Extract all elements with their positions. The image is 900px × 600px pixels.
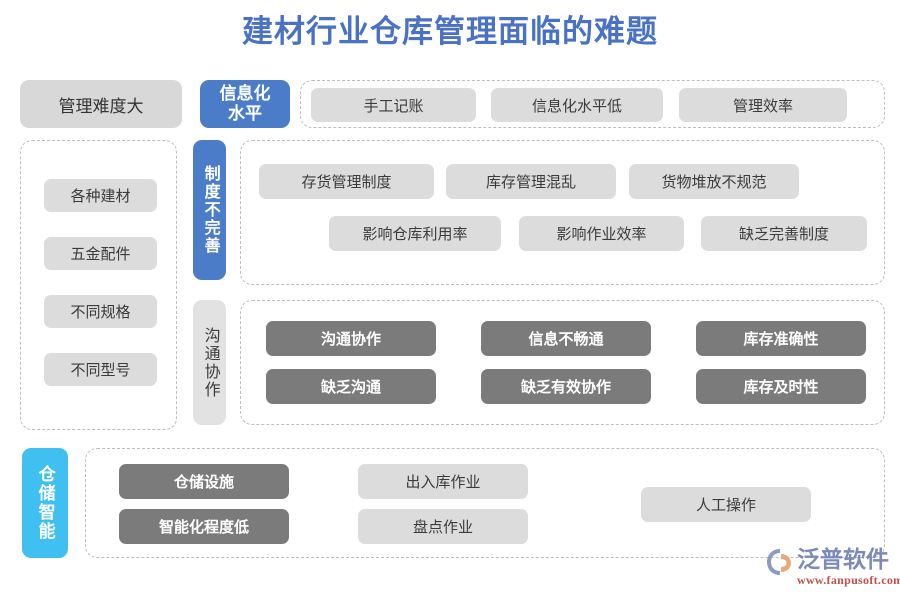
warehouse-item-c2-0[interactable]: 出入库作业 (358, 464, 528, 499)
brand-url: www.fanpusoft.com (797, 573, 900, 588)
category-label-smart-warehousing-text: 仓储智能 (36, 465, 53, 541)
system-item-r2-2[interactable]: 缺乏完善制度 (701, 216, 867, 251)
system-item-r1-0[interactable]: 存货管理制度 (259, 164, 434, 199)
communication-item-r1-0[interactable]: 沟通协作 (266, 321, 436, 356)
page-title: 建材行业仓库管理面临的难题 (0, 12, 900, 52)
category-label-incomplete-system-text: 制度不完善 (201, 165, 217, 255)
material-item-1[interactable]: 五金配件 (44, 237, 157, 270)
fanpu-logo-icon (766, 547, 796, 577)
panel-communication: 沟通协作 信息不畅通 库存准确性 缺乏沟通 缺乏有效协作 库存及时性 (240, 300, 885, 425)
communication-item-r1-2[interactable]: 库存准确性 (696, 321, 866, 356)
communication-item-r2-1[interactable]: 缺乏有效协作 (481, 369, 651, 404)
brand-name: 泛普软件 (797, 545, 889, 573)
item-low-informatization[interactable]: 信息化水平低 (491, 88, 663, 122)
category-label-communication-text: 沟通协作 (201, 327, 217, 399)
category-label-communication[interactable]: 沟通协作 (193, 300, 226, 425)
infographic-canvas: 建材行业仓库管理面临的难题 管理难度大 信息化水平 手工记账 信息化水平低 管理… (0, 0, 900, 600)
communication-item-r1-1[interactable]: 信息不畅通 (481, 321, 651, 356)
item-management-efficiency[interactable]: 管理效率 (679, 88, 847, 122)
panel-smart-warehousing: 仓储设施 智能化程度低 出入库作业 盘点作业 人工操作 (85, 448, 885, 558)
material-item-2[interactable]: 不同规格 (44, 295, 157, 328)
header-management-difficulty: 管理难度大 (20, 80, 182, 128)
material-item-0[interactable]: 各种建材 (44, 179, 157, 212)
panel-incomplete-system: 存货管理制度 库存管理混乱 货物堆放不规范 影响仓库利用率 影响作业效率 缺乏完… (240, 140, 885, 285)
warehouse-item-c3-0[interactable]: 人工操作 (641, 487, 811, 522)
warehouse-item-c2-1[interactable]: 盘点作业 (358, 509, 528, 544)
system-item-r1-1[interactable]: 库存管理混乱 (446, 164, 616, 199)
category-label-informatization-text: 信息化水平 (220, 84, 271, 124)
category-label-incomplete-system[interactable]: 制度不完善 (193, 140, 226, 280)
warehouse-item-c1-1[interactable]: 智能化程度低 (119, 509, 289, 544)
category-label-informatization[interactable]: 信息化水平 (200, 80, 290, 128)
category-label-smart-warehousing[interactable]: 仓储智能 (22, 448, 68, 558)
panel-informatization: 手工记账 信息化水平低 管理效率 (300, 80, 885, 128)
communication-item-r2-0[interactable]: 缺乏沟通 (266, 369, 436, 404)
material-item-3[interactable]: 不同型号 (44, 353, 157, 386)
warehouse-item-c1-0[interactable]: 仓储设施 (119, 464, 289, 499)
communication-item-r2-2[interactable]: 库存及时性 (696, 369, 866, 404)
system-item-r1-2[interactable]: 货物堆放不规范 (629, 164, 799, 199)
system-item-r2-1[interactable]: 影响作业效率 (519, 216, 684, 251)
brand-logo: 泛普软件 www.fanpusoft.com (766, 545, 894, 593)
item-manual-bookkeeping[interactable]: 手工记账 (311, 88, 476, 122)
panel-materials-list: 各种建材 五金配件 不同规格 不同型号 (20, 140, 177, 430)
system-item-r2-0[interactable]: 影响仓库利用率 (329, 216, 501, 251)
